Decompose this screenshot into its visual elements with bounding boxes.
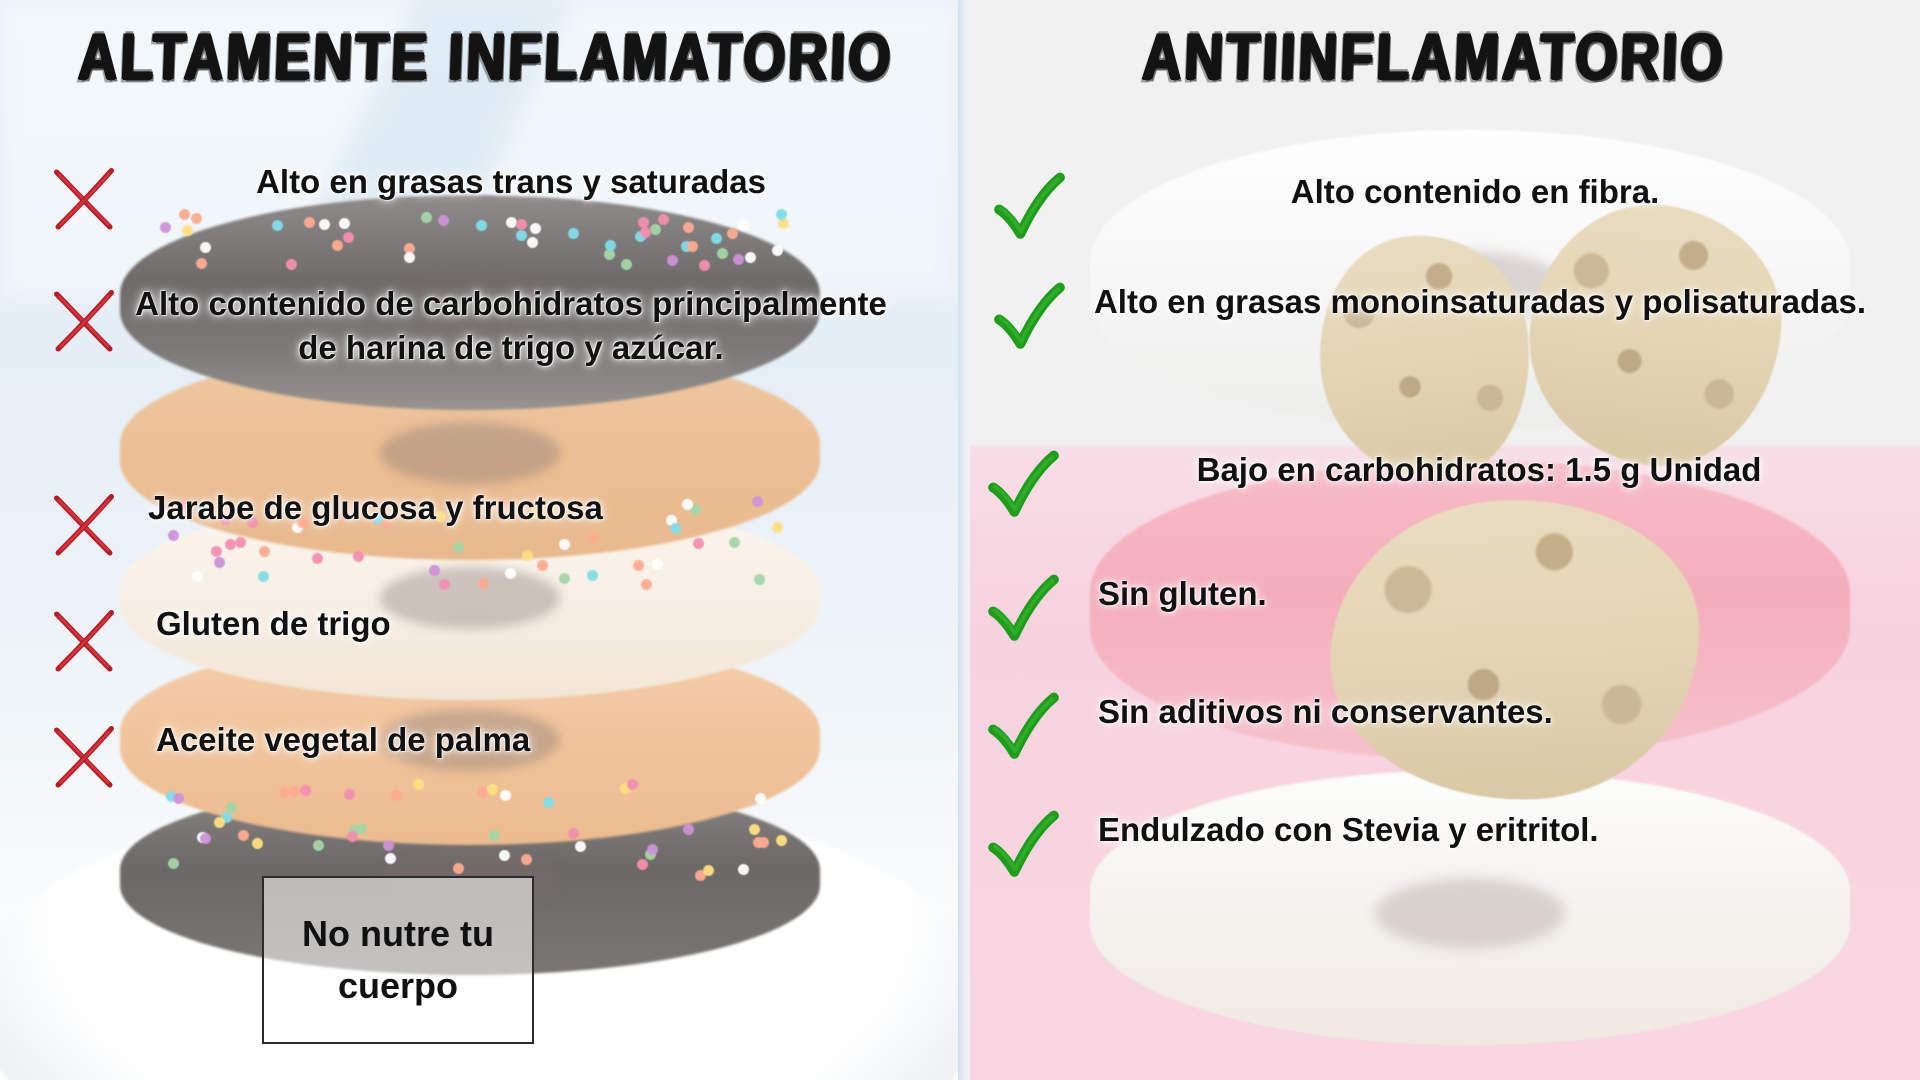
- comparison-infographic: ALTAMENTE INFLAMATORIO Alto en grasas tr…: [0, 0, 1920, 1080]
- check-mark-icon: [990, 280, 1066, 356]
- list-item: Gluten de trigo: [46, 602, 746, 678]
- list-item-label: Jarabe de glucosa y fructosa: [126, 486, 826, 530]
- list-item: Alto en grasas monoinsaturadas y polisat…: [990, 280, 1900, 356]
- list-item-label: Alto contenido en fibra.: [1070, 170, 1880, 214]
- list-item-label: Sin aditivos ni conservantes.: [1064, 690, 1804, 734]
- check-mark-icon: [984, 448, 1060, 524]
- panel-inflammatory: ALTAMENTE INFLAMATORIO Alto en grasas tr…: [0, 0, 958, 1080]
- check-mark-icon: [984, 690, 1060, 766]
- x-mark-icon: [46, 160, 122, 236]
- check-mark-icon: [984, 572, 1060, 648]
- list-item: Endulzado con Stevia y eritritol.: [984, 808, 1864, 884]
- list-item: Alto en grasas trans y saturadas: [46, 160, 916, 236]
- list-item-label: Alto en grasas monoinsaturadas y polisat…: [1070, 280, 1890, 324]
- list-item: Alto contenido de carbohidratos principa…: [46, 282, 926, 370]
- list-item-label: Endulzado con Stevia y eritritol.: [1064, 808, 1844, 852]
- x-mark-icon: [46, 718, 122, 794]
- list-item-label: Aceite vegetal de palma: [126, 718, 766, 762]
- check-mark-icon: [990, 170, 1066, 246]
- list-item: Sin gluten.: [984, 572, 1684, 648]
- antiinflammatory-list: Alto contenido en fibra. Alto en grasas …: [970, 0, 1920, 1080]
- panel-divider: [958, 0, 970, 1080]
- list-item-label: Alto contenido de carbohidratos principa…: [126, 282, 896, 370]
- page-title-antiinflammatory: ANTIINFLAMATORIO: [1141, 19, 1727, 95]
- callout-box-left: No nutre tu cuerpo: [262, 876, 534, 1044]
- list-item: Aceite vegetal de palma: [46, 718, 786, 794]
- list-item-label: Gluten de trigo: [126, 602, 726, 646]
- x-mark-icon: [46, 486, 122, 562]
- list-item: Sin aditivos ni conservantes.: [984, 690, 1824, 766]
- list-item-label: Sin gluten.: [1064, 572, 1664, 616]
- list-item: Bajo en carbohidratos: 1.5 g Unidad: [984, 448, 1904, 524]
- page-title-inflammatory: ALTAMENTE INFLAMATORIO: [77, 19, 895, 95]
- list-item-label: Bajo en carbohidratos: 1.5 g Unidad: [1064, 448, 1894, 492]
- list-item-label: Alto en grasas trans y saturadas: [126, 160, 896, 204]
- x-mark-icon: [46, 602, 122, 678]
- panel-antiinflammatory: ANTIINFLAMATORIO Alto contenido en fibra…: [970, 0, 1920, 1080]
- x-mark-icon: [46, 282, 122, 358]
- list-item: Alto contenido en fibra.: [990, 170, 1890, 246]
- check-mark-icon: [984, 808, 1060, 884]
- list-item: Jarabe de glucosa y fructosa: [46, 486, 846, 562]
